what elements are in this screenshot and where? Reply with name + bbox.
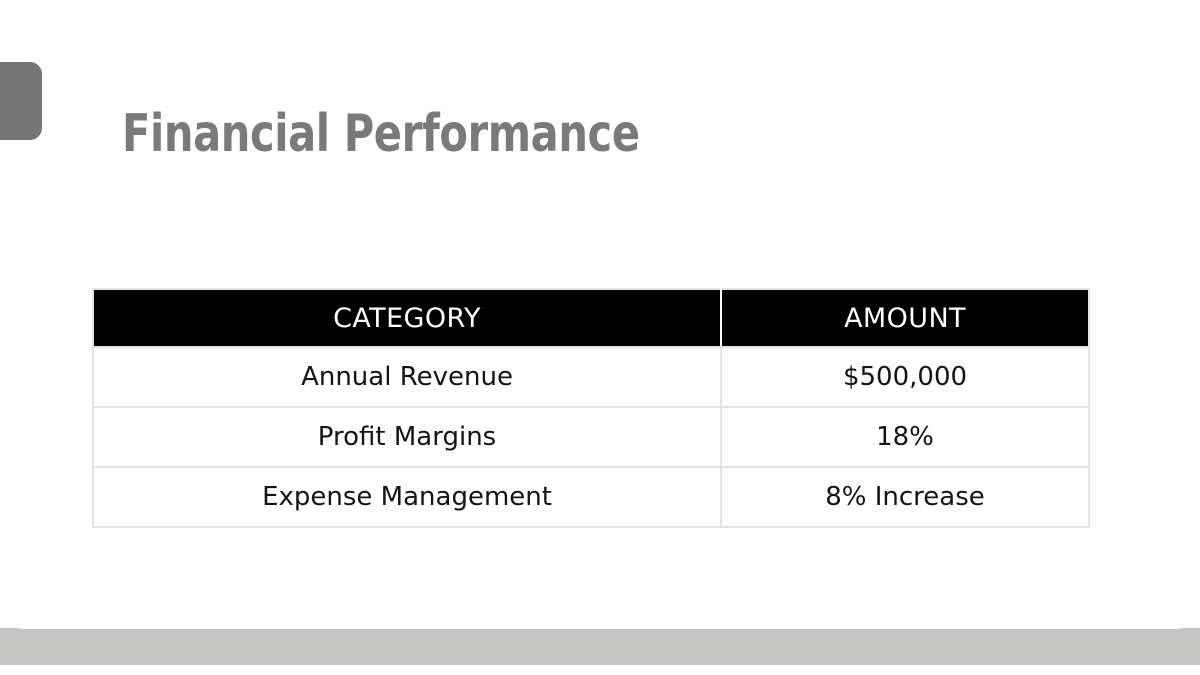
table-body: Annual Revenue $500,000 Profit Margins 1… [93, 347, 1089, 527]
cell-category: Annual Revenue [93, 347, 721, 407]
cell-amount: $500,000 [721, 347, 1089, 407]
slide: Financial Performance CATEGORY AMOUNT An… [0, 0, 1200, 675]
column-header-category: CATEGORY [93, 289, 721, 347]
table-header-row: CATEGORY AMOUNT [93, 289, 1089, 347]
bottom-accent-band [0, 628, 1200, 665]
financial-table-container: CATEGORY AMOUNT Annual Revenue $500,000 … [92, 288, 1088, 528]
cell-category: Profit Margins [93, 407, 721, 467]
table-row: Expense Management 8% Increase [93, 467, 1089, 527]
financial-table: CATEGORY AMOUNT Annual Revenue $500,000 … [92, 288, 1090, 528]
content-card: Financial Performance CATEGORY AMOUNT An… [0, 0, 1200, 629]
column-header-amount: AMOUNT [721, 289, 1089, 347]
table-header: CATEGORY AMOUNT [93, 289, 1089, 347]
cell-amount: 18% [721, 407, 1089, 467]
table-row: Profit Margins 18% [93, 407, 1089, 467]
page-title: Financial Performance [122, 101, 640, 167]
table-row: Annual Revenue $500,000 [93, 347, 1089, 407]
cell-category: Expense Management [93, 467, 721, 527]
left-accent-tab [0, 62, 42, 140]
cell-amount: 8% Increase [721, 467, 1089, 527]
